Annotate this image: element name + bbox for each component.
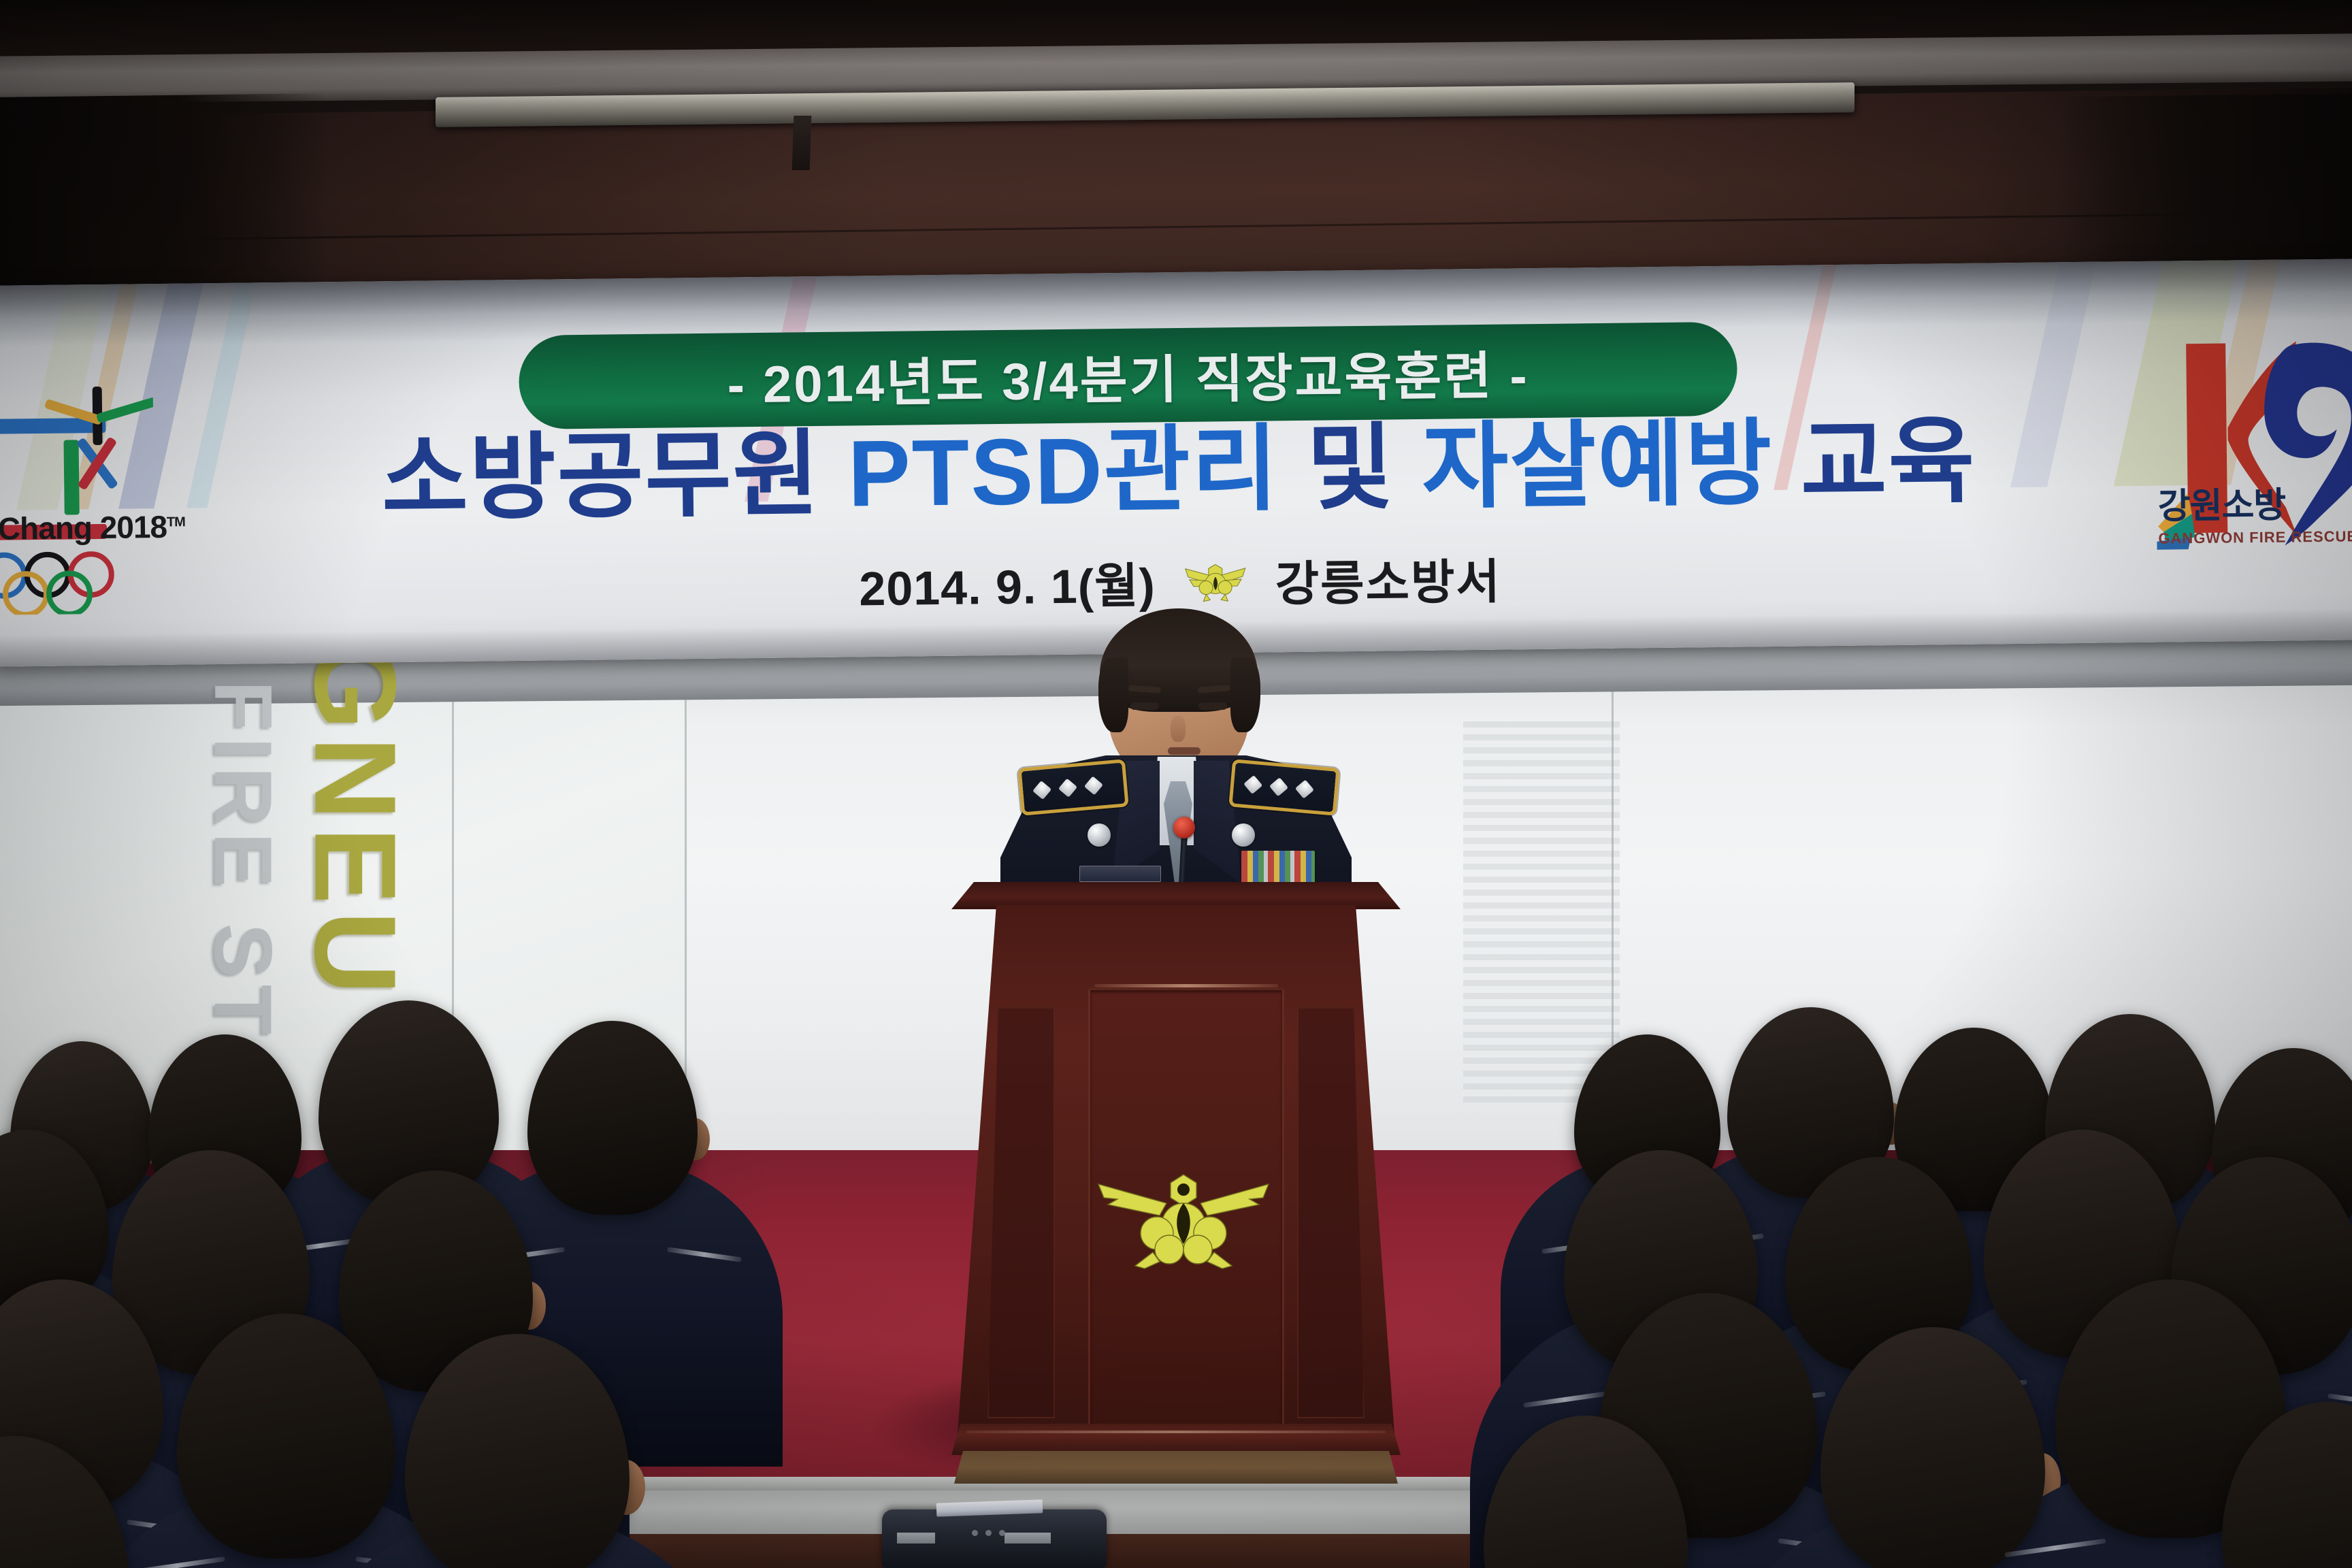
photo-scene: GNEU FIRE ST bbox=[0, 0, 2352, 1568]
